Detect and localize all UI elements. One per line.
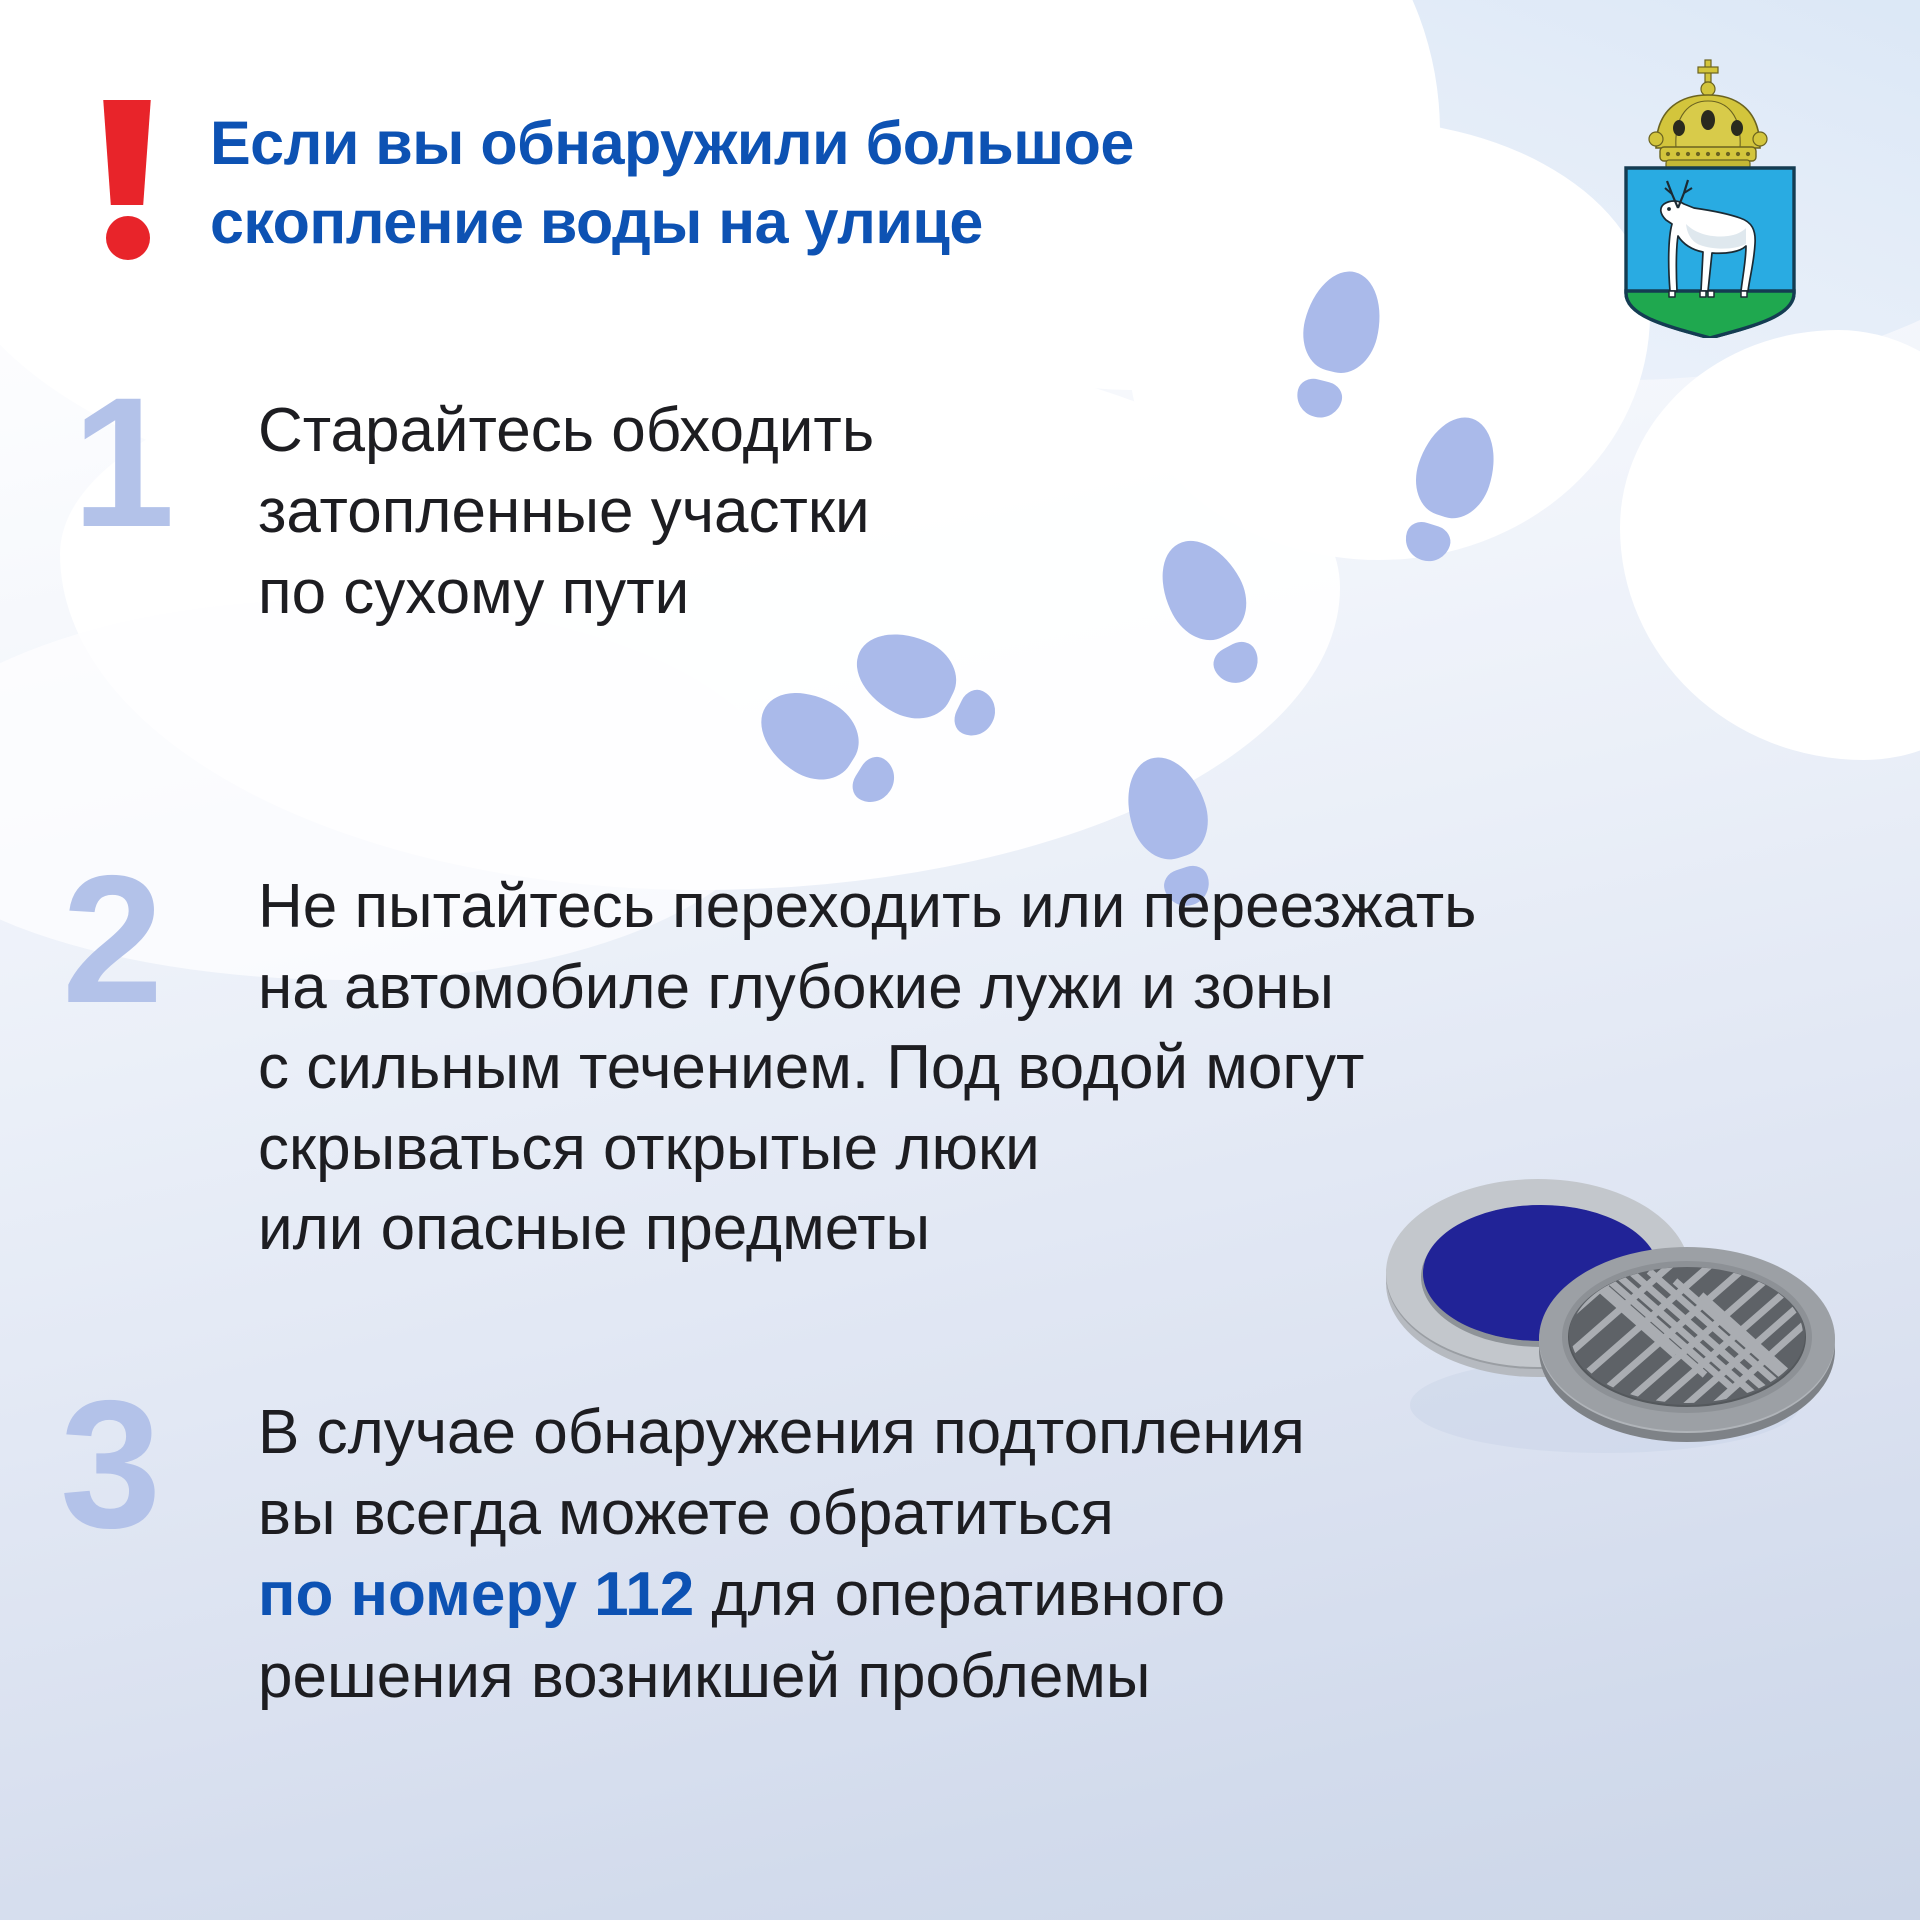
item-text-line: или опасные предметы: [258, 1189, 1476, 1270]
item-text-line-rest: для оперативного: [694, 1560, 1225, 1629]
footprint-icon: [842, 617, 1011, 753]
item-text-line: на автомобиле глубокие лужи и зоны: [258, 948, 1476, 1029]
footprint-icon: [745, 674, 914, 820]
item-text-line: по сухому пути: [258, 552, 874, 633]
infographic-poster: Если вы обнаружили большое скопление вод…: [0, 0, 1920, 1920]
item-number: 1: [72, 388, 171, 540]
item-text: Не пытайтесь переходить или переезжать н…: [258, 867, 1476, 1270]
exclamation-mark-icon: [96, 100, 158, 260]
item-text-line: решения возникшей проблемы: [258, 1636, 1305, 1717]
item-text-line: затопленные участки: [258, 471, 874, 552]
page-title: Если вы обнаружили большое скопление вод…: [210, 104, 1310, 263]
shield-icon: [1626, 168, 1794, 338]
item-text-line: вы всегда можете обратиться: [258, 1473, 1305, 1554]
item-text-line: В случае обнаружения подтопления: [258, 1392, 1305, 1473]
title-line-2: скопление воды на улице: [210, 183, 1310, 262]
item-number: 2: [62, 865, 159, 1014]
item-text-line: скрываться открытые люки: [258, 1109, 1476, 1190]
emergency-number: по номеру 112: [258, 1560, 694, 1629]
item-text-line-with-phone: по номеру 112 для оперативного: [258, 1554, 1305, 1635]
title-line-1: Если вы обнаружили большое: [210, 104, 1310, 183]
header: Если вы обнаружили большое скопление вод…: [0, 0, 1920, 300]
open-manhole-icon: [1375, 1165, 1845, 1465]
item-text-line: Старайтесь обходить: [258, 390, 874, 471]
crown-icon: [1649, 60, 1767, 169]
item-text-line: Не пытайтесь переходить или переезжать: [258, 867, 1476, 948]
background-blob-white-3: [1620, 330, 1920, 760]
footprint-icon: [1145, 526, 1283, 696]
samara-coat-of-arms-icon: [1604, 48, 1816, 338]
item-text-line: с сильным течением. Под водой могут: [258, 1028, 1476, 1109]
item-number: 3: [60, 1390, 157, 1539]
footprint-icon: [1391, 407, 1508, 573]
item-text: Старайтесь обходить затопленные участки …: [258, 390, 874, 634]
item-text: В случае обнаружения подтопления вы всег…: [258, 1392, 1305, 1717]
